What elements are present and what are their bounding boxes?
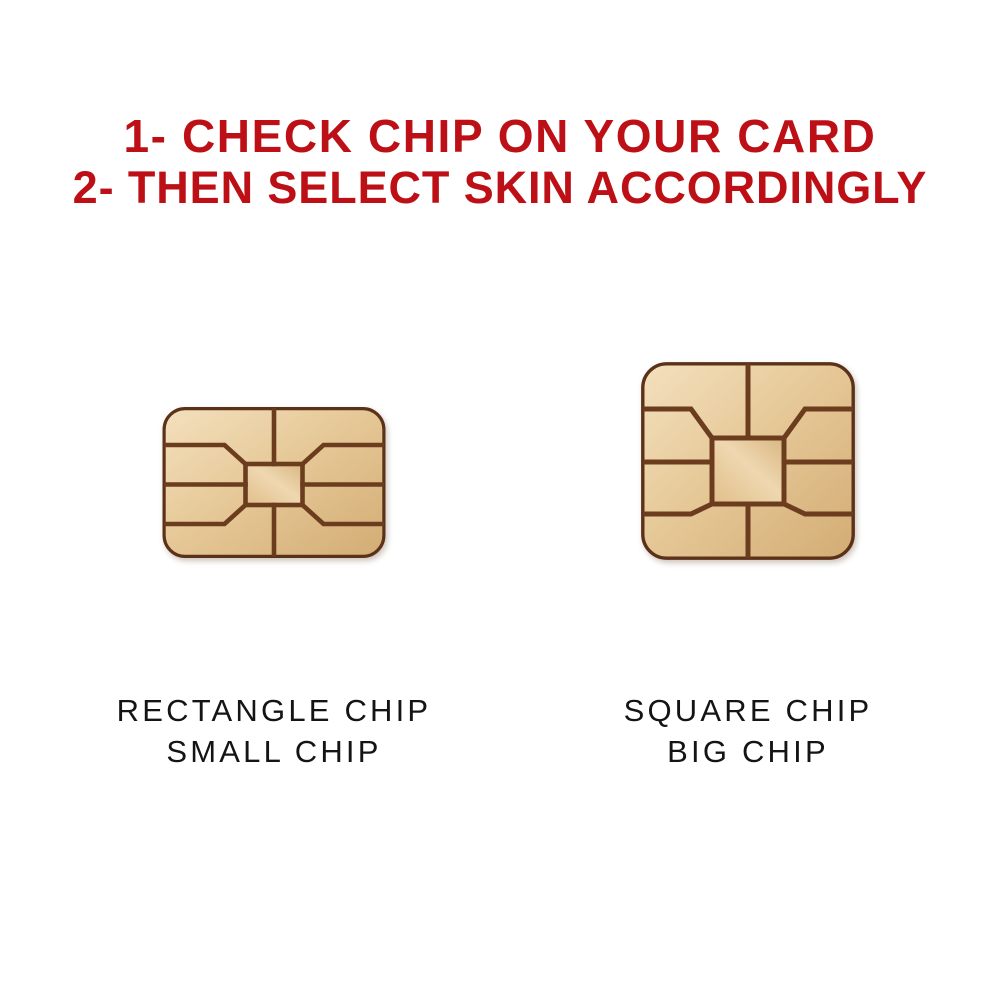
instruction-step-1: 1- CHECK CHIP ON YOUR CARD: [0, 110, 1000, 162]
chip-selection-guide: 1- CHECK CHIP ON YOUR CARD 2- THEN SELEC…: [0, 0, 1000, 1000]
emv-chip-square-icon: [641, 362, 855, 560]
chip-caption-square: SQUARE CHIP BIG CHIP: [538, 690, 958, 772]
caption-line-primary: RECTANGLE CHIP: [64, 690, 484, 731]
caption-line-secondary: BIG CHIP: [538, 731, 958, 772]
chip-option-square-big[interactable]: SQUARE CHIP BIG CHIP: [538, 350, 958, 800]
chip-image-stage-square: [538, 350, 958, 580]
chip-options-row: RECTANGLE CHIP SMALL CHIP: [0, 350, 1000, 800]
caption-line-primary: SQUARE CHIP: [538, 690, 958, 731]
instruction-step-2: 2- THEN SELECT SKIN ACCORDINGLY: [0, 162, 1000, 214]
emv-chip-rectangle-icon: [163, 407, 386, 558]
caption-line-secondary: SMALL CHIP: [64, 731, 484, 772]
chip-option-rectangle-small[interactable]: RECTANGLE CHIP SMALL CHIP: [64, 350, 484, 800]
chip-image-stage-rectangle: [64, 350, 484, 580]
instructions-headline: 1- CHECK CHIP ON YOUR CARD 2- THEN SELEC…: [0, 110, 1000, 214]
chip-caption-rectangle: RECTANGLE CHIP SMALL CHIP: [64, 690, 484, 772]
